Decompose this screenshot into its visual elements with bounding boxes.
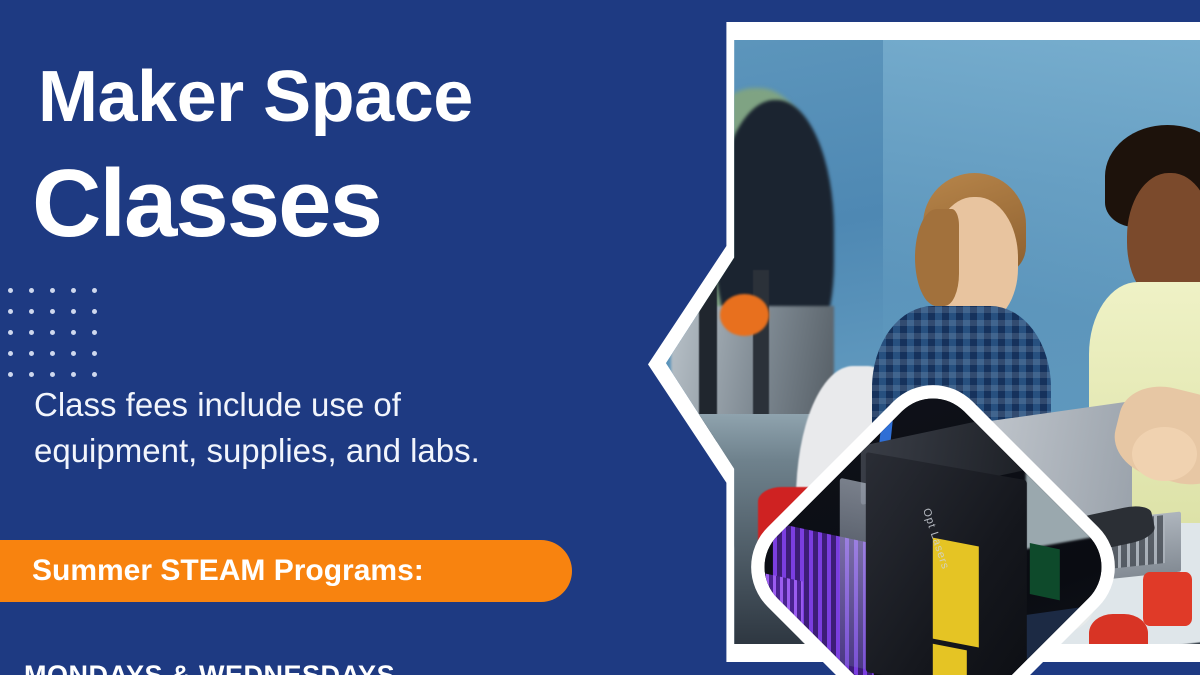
grid-dot — [71, 372, 76, 377]
grid-dot — [71, 351, 76, 356]
photo-printer-rail-left — [699, 282, 718, 536]
headline-line-2: Classes — [32, 152, 381, 256]
subcopy-line-2: equipment, supplies, and labs. — [34, 428, 614, 474]
grid-dot — [8, 330, 13, 335]
grid-dot — [29, 309, 34, 314]
headline-line-1: Maker Space — [38, 58, 473, 136]
subcopy-block: Class fees include use of equipment, sup… — [34, 382, 614, 474]
inset-diamond-frame: Opt Lasers — [788, 422, 1078, 675]
grid-dot — [71, 330, 76, 335]
grid-dot — [92, 309, 97, 314]
grid-dot — [50, 330, 55, 335]
grid-dot — [92, 330, 97, 335]
grid-dot — [92, 288, 97, 293]
photo-red-cylinder — [1089, 614, 1149, 644]
photo-girl-hair-side — [915, 209, 958, 306]
grid-dot — [29, 288, 34, 293]
left-content-column: Maker Space Classes Class fees include u… — [0, 0, 640, 675]
grid-dot — [50, 288, 55, 293]
grid-dot — [29, 372, 34, 377]
grid-dot — [71, 309, 76, 314]
subcopy-line-1: Class fees include use of — [34, 382, 614, 428]
grid-dot — [50, 309, 55, 314]
poster-canvas: Maker Space Classes Class fees include u… — [0, 0, 1200, 675]
photo-composition: Opt Lasers — [640, 0, 1200, 675]
grid-dot — [29, 351, 34, 356]
summer-programs-pill[interactable]: Summer STEAM Programs: — [0, 540, 572, 602]
schedule-footer-text: MONDAYS & WEDNESDAYS — [24, 660, 395, 675]
grid-dot — [8, 351, 13, 356]
photo-boy-hand-typing — [1132, 427, 1197, 481]
grid-dot — [92, 372, 97, 377]
grid-dot — [50, 351, 55, 356]
grid-dot — [50, 372, 55, 377]
inset-pcb-right — [1030, 543, 1060, 600]
photo-red-print-part — [1143, 572, 1192, 626]
summer-programs-label: Summer STEAM Programs: — [32, 554, 424, 588]
photo-printer-knob — [720, 294, 769, 336]
dot-grid-decoration — [0, 286, 100, 376]
grid-dot — [8, 372, 13, 377]
grid-dot — [71, 288, 76, 293]
grid-dot — [8, 288, 13, 293]
grid-dot — [8, 309, 13, 314]
grid-dot — [29, 330, 34, 335]
inset-hazard-label — [933, 644, 967, 675]
grid-dot — [92, 351, 97, 356]
